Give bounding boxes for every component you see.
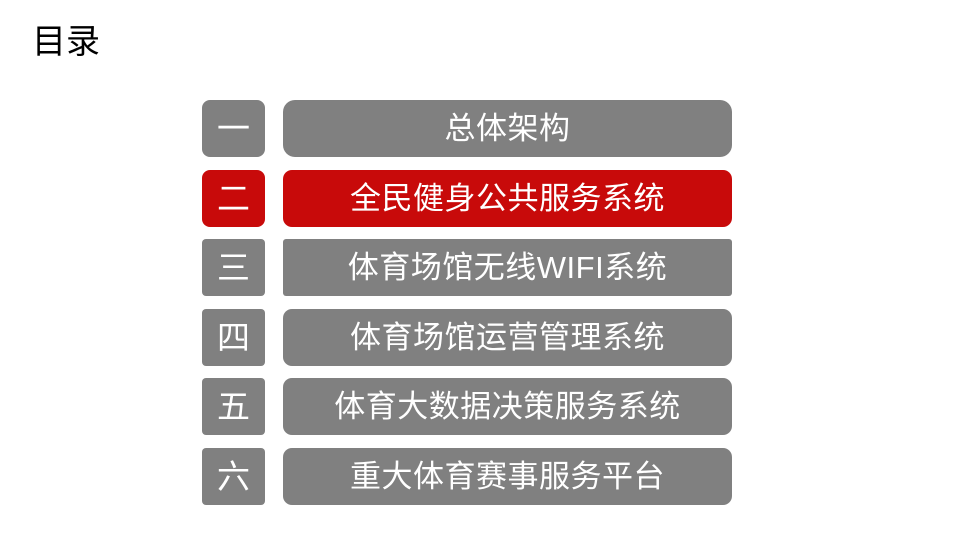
toc-number-badge: 五 bbox=[202, 378, 265, 435]
toc-item-label: 体育大数据决策服务系统 bbox=[334, 391, 681, 422]
toc-number-badge: 六 bbox=[202, 448, 265, 505]
list-item[interactable]: 五 体育大数据决策服务系统 bbox=[202, 378, 732, 435]
toc-number-label: 二 bbox=[217, 182, 250, 215]
toc-item-label: 体育场馆运营管理系统 bbox=[350, 322, 665, 353]
list-item[interactable]: 一 总体架构 bbox=[202, 100, 732, 157]
page-title: 目录 bbox=[32, 22, 100, 62]
toc-number-label: 四 bbox=[217, 321, 250, 354]
table-of-contents-list: 一 总体架构 二 全民健身公共服务系统 三 体育场馆无线WIFI系统 bbox=[202, 100, 732, 505]
toc-item-bar[interactable]: 总体架构 bbox=[283, 100, 732, 157]
toc-number-label: 六 bbox=[217, 460, 250, 493]
toc-number-label: 一 bbox=[217, 112, 250, 145]
toc-item-bar-active[interactable]: 全民健身公共服务系统 bbox=[283, 170, 732, 227]
toc-item-label: 总体架构 bbox=[445, 113, 571, 144]
toc-number-badge: 三 bbox=[202, 239, 265, 296]
toc-item-bar[interactable]: 重大体育赛事服务平台 bbox=[283, 448, 732, 505]
toc-number-label: 三 bbox=[217, 251, 250, 284]
toc-item-bar[interactable]: 体育大数据决策服务系统 bbox=[283, 378, 732, 435]
toc-item-label: 全民健身公共服务系统 bbox=[350, 183, 665, 214]
toc-item-bar[interactable]: 体育场馆运营管理系统 bbox=[283, 309, 732, 366]
list-item[interactable]: 六 重大体育赛事服务平台 bbox=[202, 448, 732, 505]
toc-number-badge: 一 bbox=[202, 100, 265, 157]
list-item[interactable]: 四 体育场馆运营管理系统 bbox=[202, 309, 732, 366]
toc-number-badge: 四 bbox=[202, 309, 265, 366]
slide-canvas: 目录 一 总体架构 二 全民健身公共服务系统 三 体育场 bbox=[0, 0, 960, 540]
toc-item-bar[interactable]: 体育场馆无线WIFI系统 bbox=[283, 239, 732, 296]
toc-number-label: 五 bbox=[217, 390, 250, 423]
toc-item-label: 重大体育赛事服务平台 bbox=[350, 461, 665, 492]
list-item[interactable]: 二 全民健身公共服务系统 bbox=[202, 170, 732, 227]
toc-item-label: 体育场馆无线WIFI系统 bbox=[348, 252, 667, 283]
list-item[interactable]: 三 体育场馆无线WIFI系统 bbox=[202, 239, 732, 296]
toc-number-badge: 二 bbox=[202, 170, 265, 227]
